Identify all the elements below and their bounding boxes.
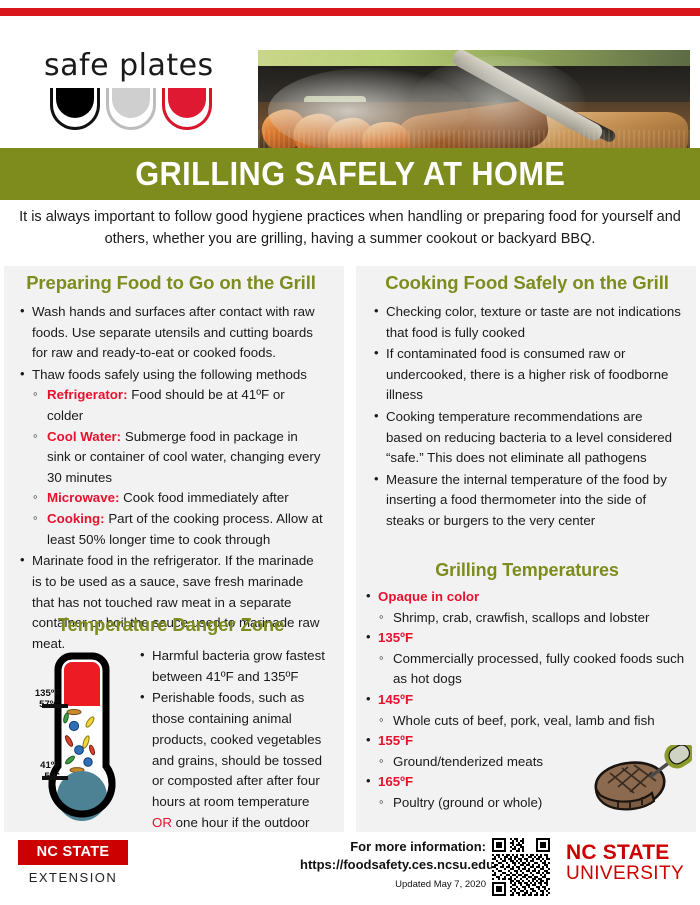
danger-zone-list: Harmful bacteria grow fastest between 41…: [138, 646, 328, 854]
lower-label-f: 41ºF: [14, 760, 60, 771]
bullet-text: If contaminated food is consumed raw or …: [386, 346, 668, 402]
extension-logo-subtitle: EXTENSION: [18, 870, 128, 885]
qr-code[interactable]: [492, 838, 550, 896]
plates-mark: [50, 88, 218, 128]
page-title: GRILLING SAFELY AT HOME: [135, 155, 565, 193]
upper-label-c: 57ºC: [14, 699, 60, 710]
top-red-rule: [0, 8, 700, 16]
list-item: Commercially processed, fully cooked foo…: [378, 649, 690, 690]
list-item: Checking color, texture or taste are not…: [372, 302, 682, 343]
cooking-food-list: Checking color, texture or taste are not…: [372, 302, 682, 532]
preparing-food-heading: Preparing Food to Go on the Grill: [18, 272, 324, 294]
list-item: 135ºF Commercially processed, fully cook…: [364, 628, 690, 690]
danger-zone-list-wrap: Harmful bacteria grow fastest between 41…: [132, 646, 328, 855]
list-item: Wash hands and surfaces after contact wi…: [18, 302, 324, 364]
title-bar: GRILLING SAFELY AT HOME: [0, 148, 700, 200]
grill-banner-image: [258, 50, 690, 160]
temperature-detail-list: Shrimp, crab, crawfish, scallops and lob…: [378, 608, 690, 629]
temperature-detail-list: Whole cuts of beef, pork, veal, lamb and…: [378, 711, 690, 732]
detail-text: Ground/tenderized meats: [393, 754, 543, 769]
detail-text: Commercially processed, fully cooked foo…: [393, 651, 684, 687]
bullet-text: Checking color, texture or taste are not…: [386, 304, 681, 340]
list-item: Whole cuts of beef, pork, veal, lamb and…: [378, 711, 690, 732]
qr-code-icon: [492, 838, 550, 896]
thermometer-lower-label: 41ºF 5ºC: [14, 760, 60, 783]
list-item: Harmful bacteria grow fastest between 41…: [138, 646, 328, 687]
list-item: If contaminated food is consumed raw or …: [372, 344, 682, 406]
plate-icon-gray: [106, 88, 156, 130]
preparing-food-list: Wash hands and surfaces after contact wi…: [18, 302, 324, 654]
thaw-methods-list: Refrigerator: Food should be at 41ºF or …: [32, 385, 324, 550]
detail-text: Whole cuts of beef, pork, veal, lamb and…: [393, 713, 655, 728]
lower-label-c: 5ºC: [14, 771, 60, 782]
detail-text: Shrimp, crab, crawfish, scallops and lob…: [393, 610, 649, 625]
safe-plates-wordmark: safe plates: [44, 48, 224, 83]
list-item: Cool Water: Submerge food in package in …: [32, 427, 324, 489]
list-item: Cooking: Part of the cooking process. Al…: [32, 509, 324, 550]
extension-logo-box: NC STATE: [18, 840, 128, 865]
infographic-page: safe plates GRILLING SAF: [0, 0, 700, 905]
steak-thermometer-illustration: [588, 745, 692, 823]
bullet-text: Measure the internal temperature of the …: [386, 472, 667, 528]
temperature-label: Opaque in color: [378, 589, 479, 604]
more-info-label: For more information:: [300, 838, 486, 856]
list-item: Thaw foods safely using the following me…: [18, 365, 324, 550]
nc-state-extension-logo: NC STATE EXTENSION: [18, 840, 128, 885]
bullet-emphasis: OR: [152, 815, 172, 830]
method-label: Refrigerator:: [47, 387, 128, 402]
list-item: Perishable foods, such as those containi…: [138, 688, 328, 854]
bullet-text: Thaw foods safely using the following me…: [32, 367, 307, 382]
list-item: Opaque in color Shrimp, crab, crawfish, …: [364, 587, 690, 628]
plate-icon-red: [162, 88, 212, 130]
list-item: Shrimp, crab, crawfish, scallops and lob…: [378, 608, 690, 629]
list-item: 145ºF Whole cuts of beef, pork, veal, la…: [364, 690, 690, 731]
university-logo-line1: NC STATE: [566, 842, 696, 864]
steak-icon: [588, 745, 692, 823]
masthead: safe plates: [0, 22, 700, 144]
preparing-food-section: Preparing Food to Go on the Grill Wash h…: [18, 272, 324, 655]
intro-paragraph: It is always important to follow good hy…: [14, 206, 686, 251]
temperature-label: 145ºF: [378, 692, 413, 707]
method-label: Cool Water:: [47, 429, 121, 444]
list-item: Measure the internal temperature of the …: [372, 470, 682, 532]
foodsafety-url[interactable]: https://foodsafety.ces.ncsu.edu/: [300, 856, 486, 874]
thermometer-icon: [14, 646, 132, 838]
nc-state-university-logo: NC STATE UNIVERSITY: [566, 842, 696, 885]
cooking-food-section: Cooking Food Safely on the Grill Checkin…: [372, 272, 682, 533]
plate-icon-black: [50, 88, 100, 130]
method-text: Cook food immediately after: [123, 490, 289, 505]
university-logo-line2: UNIVERSITY: [566, 864, 696, 885]
footer: NC STATE EXTENSION For more information:…: [0, 836, 700, 905]
bullet-text: Harmful bacteria grow fastest between 41…: [152, 648, 325, 684]
list-item: Microwave: Cook food immediately after: [32, 488, 324, 509]
temperature-label: 155ºF: [378, 733, 413, 748]
thermometer-upper-label: 135ºF 57ºC: [14, 688, 60, 711]
grilling-temperatures-heading: Grilling Temperatures: [364, 560, 690, 581]
temperature-danger-zone-section: Temperature Danger Zone: [14, 614, 328, 855]
bullet-text-pre: Perishable foods, such as those containi…: [152, 690, 322, 809]
detail-text: Poultry (ground or whole): [393, 795, 542, 810]
temperature-label: 165ºF: [378, 774, 413, 789]
cooking-food-heading: Cooking Food Safely on the Grill: [372, 272, 682, 294]
method-label: Microwave:: [47, 490, 119, 505]
updated-date: Updated May 7, 2020: [300, 879, 486, 890]
temperature-label: 135ºF: [378, 630, 413, 645]
bullet-text: Wash hands and surfaces after contact wi…: [32, 304, 315, 360]
safe-plates-logo: safe plates: [44, 48, 224, 130]
list-item: Refrigerator: Food should be at 41ºF or …: [32, 385, 324, 426]
temperature-detail-list: Commercially processed, fully cooked foo…: [378, 649, 690, 690]
upper-label-f: 135ºF: [14, 688, 60, 699]
method-label: Cooking:: [47, 511, 105, 526]
thermometer-graphic: 135ºF 57ºC 41ºF 5ºC: [14, 646, 132, 836]
bullet-text: Cooking temperature recommendations are …: [386, 409, 672, 465]
danger-zone-heading: Temperature Danger Zone: [14, 614, 328, 636]
more-information-block: For more information: https://foodsafety…: [300, 838, 486, 890]
list-item: Cooking temperature recommendations are …: [372, 407, 682, 469]
